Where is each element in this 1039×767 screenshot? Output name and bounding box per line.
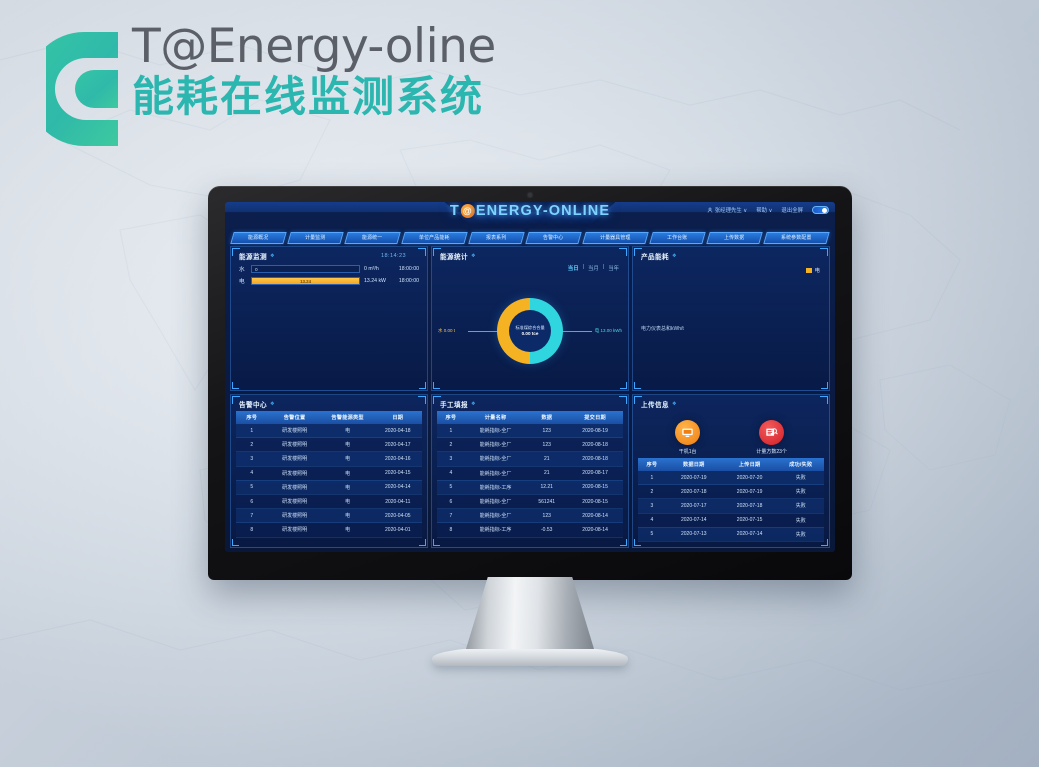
table-cell: 能耗指标-工序 xyxy=(465,480,526,494)
table-row[interactable]: 6研发楼照明电2020-04-11 xyxy=(236,494,422,508)
column-header: 数据日期 xyxy=(666,458,722,471)
panel-upload-info: 上传信息 ❖ 干机1台 xyxy=(632,394,830,548)
device-icon xyxy=(675,420,700,445)
table-row[interactable]: 12020-07-192020-07-20失败 xyxy=(638,471,824,485)
column-header: 上传日期 xyxy=(722,458,778,471)
table-cell: 能耗指标-全厂 xyxy=(465,424,526,438)
period-tab-2[interactable]: 当月 xyxy=(588,264,599,272)
table-cell: 8 xyxy=(236,523,268,537)
table-cell: 能耗指标-工序 xyxy=(465,523,526,537)
nav-button-label: 计量器具管理 xyxy=(585,233,646,245)
table-row[interactable]: 42020-07-142020-07-15失败 xyxy=(638,513,824,527)
table-cell: 研发楼照明 xyxy=(268,438,322,452)
table-cell: 研发楼照明 xyxy=(268,466,322,480)
table-cell: 3 xyxy=(638,499,666,513)
column-header: 告警能源类型 xyxy=(322,411,374,424)
table-cell: 2020-04-05 xyxy=(374,509,422,523)
product-energy-note: 电力仪表总和kWh/t xyxy=(641,325,684,332)
table-cell: 研发楼照明 xyxy=(268,424,322,438)
table-cell: 2020-07-13 xyxy=(666,527,722,541)
table-cell: 能耗指标-全厂 xyxy=(465,466,526,480)
nav-button-1[interactable]: 能源概况 xyxy=(230,232,286,244)
table-cell: 2020-07-18 xyxy=(722,499,778,513)
panel-title: 能源统计 xyxy=(440,251,468,261)
column-header: 序号 xyxy=(437,411,465,424)
energy-bar: 0 xyxy=(251,265,360,273)
table-cell: 2020-07-14 xyxy=(722,527,778,541)
upload-table-wrap: 序号数据日期上传日期成功/失败12020-07-192020-07-20失败22… xyxy=(633,458,829,542)
energy-bar-fill: 13.24 xyxy=(252,278,359,284)
table-cell: 21 xyxy=(526,466,567,480)
table-header-row: 序号告警位置告警能源类型日期 xyxy=(236,411,422,424)
table-cell: 2020-07-19 xyxy=(666,471,722,485)
table-cell: 电 xyxy=(322,523,374,537)
table-cell: -0.53 xyxy=(526,523,567,537)
expand-icon[interactable]: ❖ xyxy=(270,401,275,407)
donut-chart: 水 0.00 t 电 13.00 kWh 标准煤综合合量 0.00 tce xyxy=(432,279,628,383)
table-cell: 6 xyxy=(437,494,465,508)
table-cell: 电 xyxy=(322,509,374,523)
table-cell: 能耗指标-全厂 xyxy=(465,494,526,508)
panel-header: 能源监测 ❖ 18:14:23 xyxy=(231,247,427,263)
title-prefix: T xyxy=(450,203,460,219)
table-cell: 2020-08-14 xyxy=(567,523,623,537)
table-cell: 5 xyxy=(437,480,465,494)
table-cell: 研发楼照明 xyxy=(268,509,322,523)
table-row[interactable]: 3研发楼照明电2020-04-16 xyxy=(236,452,422,466)
dashboard: T@ENERGY-ONLINE 张经理先生 ∨ 帮助 ∨ 退出全屏 能源概况计量… xyxy=(225,202,835,552)
table-cell: 研发楼照明 xyxy=(268,523,322,537)
dashboard-grid: 能源监测 ❖ 18:14:23 水00 m³/h18:00:00电13.2413… xyxy=(230,246,830,548)
nav-button-label: 告警中心 xyxy=(528,233,579,245)
nav-button-5[interactable]: 报表系列 xyxy=(468,232,524,244)
table-cell: 失败 xyxy=(777,471,824,485)
panel-title: 上传信息 xyxy=(641,399,669,409)
energy-value: 0 m³/h xyxy=(364,266,395,272)
table-header-row: 序号数据日期上传日期成功/失败 xyxy=(638,458,824,471)
table-cell: 1 xyxy=(236,424,268,438)
nav-button-label: 上传数据 xyxy=(709,233,760,245)
energy-bar: 13.24 xyxy=(251,277,360,285)
column-header: 序号 xyxy=(638,458,666,471)
user-menu[interactable]: 张经理先生 ∨ xyxy=(707,206,747,214)
legend-swatch-icon xyxy=(806,268,812,273)
period-tab-1[interactable]: 当日 xyxy=(568,264,579,272)
table-row[interactable]: 8研发楼照明电2020-04-01 xyxy=(236,523,422,537)
table-cell: 研发楼照明 xyxy=(268,494,322,508)
expand-icon[interactable]: ❖ xyxy=(471,401,476,407)
donut-center-text: 标准煤综合合量 0.00 tce xyxy=(497,298,563,364)
table-cell: 3 xyxy=(236,452,268,466)
monitor-stand-base xyxy=(432,647,628,666)
table-row[interactable]: 3能耗指标-全厂212020-08-18 xyxy=(437,452,623,466)
webcam-icon xyxy=(528,193,532,197)
table-cell: 电 xyxy=(322,438,374,452)
table-cell: 21 xyxy=(526,452,567,466)
column-header: 日期 xyxy=(374,411,422,424)
table-cell: 123 xyxy=(526,438,567,452)
nav-button-8[interactable]: 工作台账 xyxy=(649,232,705,244)
nav-button-label: 报表系列 xyxy=(471,233,522,245)
table-cell: 能耗指标-全厂 xyxy=(465,452,526,466)
brand-subtitle: 能耗在线监测系统 xyxy=(132,73,496,120)
table-row[interactable]: 4研发楼照明电2020-04-15 xyxy=(236,466,422,480)
energy-timestamp: 18:00:00 xyxy=(399,278,419,284)
monitor-screen: T@ENERGY-ONLINE 张经理先生 ∨ 帮助 ∨ 退出全屏 能源概况计量… xyxy=(225,202,835,552)
nav-button-label: 计量监测 xyxy=(290,233,341,245)
table-cell: 研发楼照明 xyxy=(268,480,322,494)
upload-table: 序号数据日期上传日期成功/失败12020-07-192020-07-20失败22… xyxy=(638,458,824,542)
table-cell: 4 xyxy=(437,466,465,480)
upload-stat-meters[interactable]: 计量方数23个 xyxy=(756,420,787,455)
table-cell: 12.21 xyxy=(526,480,567,494)
table-cell: 2020-07-15 xyxy=(722,513,778,527)
panel-header: 手工填报 ❖ xyxy=(432,395,628,411)
table-cell: 4 xyxy=(236,466,268,480)
panel-title: 手工填报 xyxy=(440,399,468,409)
table-cell: 失败 xyxy=(777,527,824,541)
table-cell: 7 xyxy=(437,509,465,523)
table-cell: 电 xyxy=(322,466,374,480)
column-header: 数据 xyxy=(526,411,567,424)
panel-energy-monitor: 能源监测 ❖ 18:14:23 水00 m³/h18:00:00电13.2413… xyxy=(230,246,428,391)
nav-button-6[interactable]: 告警中心 xyxy=(525,232,581,244)
table-cell: 561241 xyxy=(526,494,567,508)
manual-table-wrap: 序号计量名称数据提交日期1能耗指标-全厂1232020-08-192能耗指标-全… xyxy=(432,411,628,538)
table-row[interactable]: 1能耗指标-全厂1232020-08-19 xyxy=(437,424,623,438)
table-cell: 2 xyxy=(437,438,465,452)
table-cell: 电 xyxy=(322,424,374,438)
table-header-row: 序号计量名称数据提交日期 xyxy=(437,411,623,424)
energy-timestamp: 18:00:00 xyxy=(399,266,419,272)
table-row[interactable]: 22020-07-182020-07-19失败 xyxy=(638,485,824,499)
table-cell: 电 xyxy=(322,480,374,494)
column-header: 计量名称 xyxy=(465,411,526,424)
fullscreen-label: 退出全屏 xyxy=(781,206,803,214)
table-cell: 能耗指标-全厂 xyxy=(465,438,526,452)
table-cell: 2020-07-14 xyxy=(666,513,722,527)
fullscreen-toggle[interactable] xyxy=(812,206,829,214)
manual-entry-table: 序号计量名称数据提交日期1能耗指标-全厂1232020-08-192能耗指标-全… xyxy=(437,411,623,538)
upload-stat-device[interactable]: 干机1台 xyxy=(675,420,700,455)
table-cell: 123 xyxy=(526,509,567,523)
table-row[interactable]: 1研发楼照明电2020-04-18 xyxy=(236,424,422,438)
user-name: 张经理先生 ∨ xyxy=(715,206,747,214)
table-cell: 2020-04-15 xyxy=(374,466,422,480)
upload-stats: 干机1台 计量方数23个 xyxy=(633,411,829,458)
nav-button-9[interactable]: 上传数据 xyxy=(706,232,762,244)
panel-header: 上传信息 ❖ xyxy=(633,395,829,411)
donut-label-water: 水 0.00 t xyxy=(438,328,455,334)
upload-stat-label: 干机1台 xyxy=(675,448,700,455)
column-header: 序号 xyxy=(236,411,268,424)
table-cell: 失败 xyxy=(777,485,824,499)
table-cell: 7 xyxy=(236,509,268,523)
document-search-icon xyxy=(759,420,784,445)
at-sign-icon: @ xyxy=(461,204,475,218)
table-cell: 2020-08-14 xyxy=(567,509,623,523)
brand-title: T@Energy-oline xyxy=(132,22,496,71)
table-cell: 2020-07-17 xyxy=(666,499,722,513)
table-row[interactable]: 4能耗指标-全厂212020-08-17 xyxy=(437,466,623,480)
current-time: 18:14:23 xyxy=(381,253,406,259)
main-nav: 能源概况计量监测能源统一单位产品能耗报表系列告警中心计量器具管理工作台账上传数据… xyxy=(225,231,835,244)
monitor-stand-neck xyxy=(466,577,594,649)
nav-button-7[interactable]: 计量器具管理 xyxy=(582,232,649,244)
panel-title: 产品能耗 xyxy=(641,251,669,261)
table-cell: 失败 xyxy=(777,513,824,527)
alarm-table: 序号告警位置告警能源类型日期1研发楼照明电2020-04-182研发楼照明电20… xyxy=(236,411,422,538)
table-cell: 2 xyxy=(236,438,268,452)
expand-icon[interactable]: ❖ xyxy=(270,253,275,259)
table-cell: 失败 xyxy=(777,499,824,513)
panel-title: 能源监测 xyxy=(239,251,267,261)
column-header: 提交日期 xyxy=(567,411,623,424)
nav-button-label: 工作台账 xyxy=(652,233,703,245)
table-cell: 2020-07-18 xyxy=(666,485,722,499)
table-row[interactable]: 6能耗指标-全厂5612412020-08-15 xyxy=(437,494,623,508)
table-row[interactable]: 52020-07-132020-07-14失败 xyxy=(638,527,824,541)
panel-header: 能源统计 ❖ xyxy=(432,247,628,263)
nav-button-label: 能源概况 xyxy=(233,233,284,245)
column-header: 告警位置 xyxy=(268,411,322,424)
dashboard-title: T@ENERGY-ONLINE xyxy=(450,203,610,219)
table-cell: 2020-08-17 xyxy=(567,466,623,480)
table-cell: 3 xyxy=(437,452,465,466)
panel-title: 告警中心 xyxy=(239,399,267,409)
expand-icon[interactable]: ❖ xyxy=(672,253,677,259)
table-cell: 2020-04-16 xyxy=(374,452,422,466)
table-cell: 研发楼照明 xyxy=(268,452,322,466)
table-cell: 电 xyxy=(322,494,374,508)
table-cell: 2020-08-15 xyxy=(567,494,623,508)
nav-button-10[interactable]: 系统参数配置 xyxy=(763,232,830,244)
table-row[interactable]: 2研发楼照明电2020-04-17 xyxy=(236,438,422,452)
nav-button-2[interactable]: 计量监测 xyxy=(287,232,343,244)
expand-icon[interactable]: ❖ xyxy=(471,253,476,259)
table-row[interactable]: 7能耗指标-全厂1232020-08-14 xyxy=(437,509,623,523)
nav-button-label: 能源统一 xyxy=(347,233,398,245)
table-cell: 电 xyxy=(322,452,374,466)
table-row[interactable]: 7研发楼照明电2020-04-05 xyxy=(236,509,422,523)
tab-separator: | xyxy=(583,264,584,272)
table-cell: 2020-04-11 xyxy=(374,494,422,508)
table-cell: 2020-08-18 xyxy=(567,438,623,452)
table-cell: 2020-07-20 xyxy=(722,471,778,485)
table-row[interactable]: 32020-07-172020-07-18失败 xyxy=(638,499,824,513)
energy-rows: 水00 m³/h18:00:00电13.2413.24 kW18:00:00 xyxy=(231,263,427,287)
table-cell: 2020-04-01 xyxy=(374,523,422,537)
expand-icon[interactable]: ❖ xyxy=(672,401,677,407)
panel-header: 告警中心 ❖ xyxy=(231,395,427,411)
period-tabs: 当日|当月|当年 xyxy=(568,264,619,272)
table-cell: 4 xyxy=(638,513,666,527)
dashboard-header: T@ENERGY-ONLINE 张经理先生 ∨ 帮助 ∨ 退出全屏 xyxy=(225,202,835,231)
energy-value: 13.24 kW xyxy=(364,278,395,284)
user-icon xyxy=(707,207,713,213)
upload-stat-label: 计量方数23个 xyxy=(756,448,787,455)
help-menu[interactable]: 帮助 ∨ xyxy=(756,206,772,214)
period-tab-3[interactable]: 当年 xyxy=(608,264,619,272)
table-cell: 5 xyxy=(236,480,268,494)
panel-product-energy: 产品能耗 ❖ 电 电力仪表总和kWh/t xyxy=(632,246,830,391)
table-cell: 8 xyxy=(437,523,465,537)
table-cell: 6 xyxy=(236,494,268,508)
c-arc-logo-icon xyxy=(46,28,124,150)
legend-label: 电 xyxy=(815,267,820,274)
monitor-bezel: T@ENERGY-ONLINE 张经理先生 ∨ 帮助 ∨ 退出全屏 能源概况计量… xyxy=(208,186,852,580)
table-cell: 5 xyxy=(638,527,666,541)
panel-header: 产品能耗 ❖ xyxy=(633,247,829,263)
nav-button-4[interactable]: 单位产品能耗 xyxy=(401,232,468,244)
energy-row: 水00 m³/h18:00:00 xyxy=(231,263,427,275)
table-cell: 1 xyxy=(437,424,465,438)
panel-alarm-center: 告警中心 ❖ 序号告警位置告警能源类型日期1研发楼照明电2020-04-182研… xyxy=(230,394,428,548)
energy-row: 电13.2413.24 kW18:00:00 xyxy=(231,275,427,287)
energy-type-label: 电 xyxy=(239,277,247,285)
table-cell: 1 xyxy=(638,471,666,485)
donut-label-electricity: 电 13.00 kWh xyxy=(595,328,622,334)
brand-block: T@Energy-oline 能耗在线监测系统 xyxy=(46,22,496,150)
table-row[interactable]: 5研发楼照明电2020-04-14 xyxy=(236,480,422,494)
table-cell: 2020-08-15 xyxy=(567,480,623,494)
table-cell: 2020-04-17 xyxy=(374,438,422,452)
legend-electricity: 电 xyxy=(806,267,820,274)
nav-button-label: 单位产品能耗 xyxy=(404,233,465,245)
table-cell: 能耗指标-全厂 xyxy=(465,509,526,523)
table-cell: 2020-07-19 xyxy=(722,485,778,499)
column-header: 成功/失败 xyxy=(777,458,824,471)
panel-manual-entry: 手工填报 ❖ 序号计量名称数据提交日期1能耗指标-全厂1232020-08-19… xyxy=(431,394,629,548)
table-cell: 2020-04-14 xyxy=(374,480,422,494)
monitor: T@ENERGY-ONLINE 张经理先生 ∨ 帮助 ∨ 退出全屏 能源概况计量… xyxy=(208,186,852,666)
tab-separator: | xyxy=(603,264,604,272)
energy-type-label: 水 xyxy=(239,265,247,273)
nav-button-label: 系统参数配置 xyxy=(766,233,827,245)
table-row[interactable]: 2能耗指标-全厂1232020-08-18 xyxy=(437,438,623,452)
table-row[interactable]: 5能耗指标-工序12.212020-08-15 xyxy=(437,480,623,494)
alarm-table-wrap: 序号告警位置告警能源类型日期1研发楼照明电2020-04-182研发楼照明电20… xyxy=(231,411,427,538)
table-cell: 2020-04-18 xyxy=(374,424,422,438)
title-suffix: ENERGY-ONLINE xyxy=(476,203,610,219)
header-actions: 张经理先生 ∨ 帮助 ∨ 退出全屏 xyxy=(707,206,829,214)
panel-energy-stats: 能源统计 ❖ 当日|当月|当年 水 0.00 t 电 13.00 kWh 标准煤 xyxy=(431,246,629,391)
nav-button-3[interactable]: 能源统一 xyxy=(344,232,400,244)
table-cell: 2020-08-18 xyxy=(567,452,623,466)
donut-center-value: 0.00 tce xyxy=(522,331,539,338)
donut-ring: 标准煤综合合量 0.00 tce xyxy=(497,298,563,364)
table-cell: 123 xyxy=(526,424,567,438)
table-row[interactable]: 8能耗指标-工序-0.532020-08-14 xyxy=(437,523,623,537)
table-cell: 2020-08-19 xyxy=(567,424,623,438)
table-cell: 2 xyxy=(638,485,666,499)
